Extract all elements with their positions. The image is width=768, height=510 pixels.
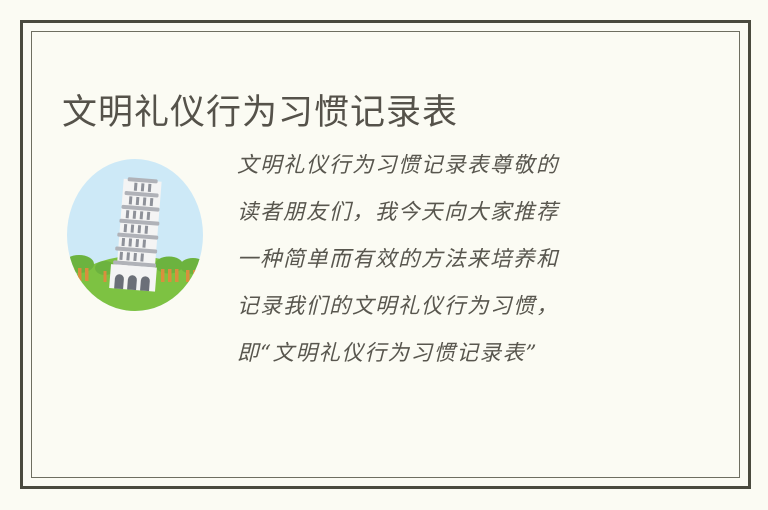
- body-line: 即“文明礼仪行为习惯记录表”: [237, 330, 711, 377]
- body-line: 文明礼仪行为习惯记录表尊敬的: [237, 142, 711, 189]
- tower-base-arches: [114, 274, 150, 291]
- leaning-tower-of-pisa-icon: [65, 158, 205, 313]
- page-title: 文明礼仪行为习惯记录表: [62, 91, 458, 135]
- document-page: 文明礼仪行为习惯记录表: [0, 0, 768, 510]
- outer-border-frame: 文明礼仪行为习惯记录表: [20, 20, 751, 489]
- body-line: 读者朋友们，我今天向大家推荐: [237, 189, 711, 236]
- body-line: 一种简单而有效的方法来培养和: [237, 236, 711, 283]
- content-area: 文明礼仪行为习惯记录表尊敬的 读者朋友们，我今天向大家推荐 一种简单而有效的方法…: [32, 142, 739, 377]
- inner-border-frame: 文明礼仪行为习惯记录表: [31, 31, 740, 478]
- body-line: 记录我们的文明礼仪行为习惯，: [237, 283, 711, 330]
- illustration-container: [32, 142, 237, 313]
- body-paragraph: 文明礼仪行为习惯记录表尊敬的 读者朋友们，我今天向大家推荐 一种简单而有效的方法…: [237, 142, 739, 377]
